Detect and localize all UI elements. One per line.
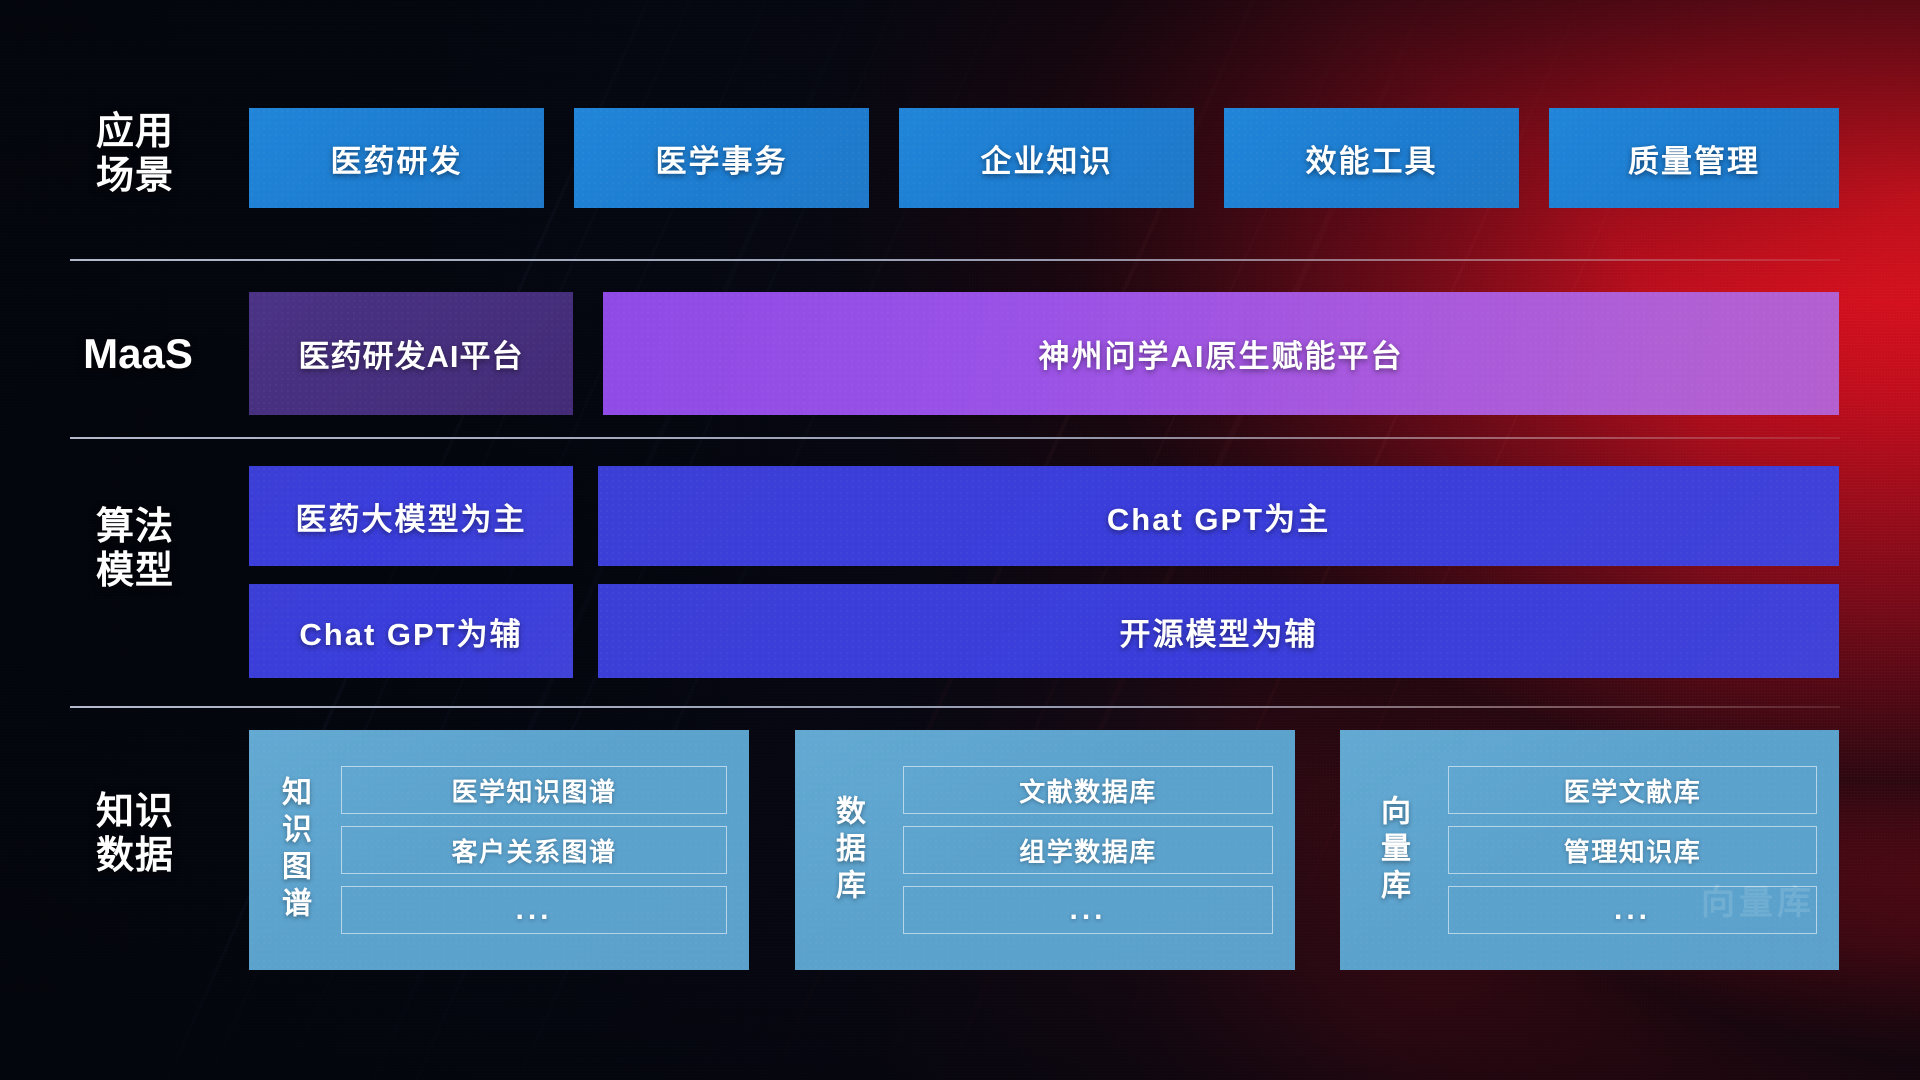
knowledge-panel-2-items: 文献数据库 组学数据库 ... [899,730,1295,970]
app-box-5-label: 质量管理 [1628,136,1760,181]
knowledge-item-label: ... [1069,893,1106,927]
knowledge-panel-3-items: 医学文献库 管理知识库 ... [1444,730,1839,970]
knowledge-item-label: 医学文献库 [1564,772,1702,809]
row-label-algorithm-line1: 算法 [60,505,210,549]
knowledge-item[interactable]: ... [1448,886,1817,934]
maas-right-label: 神州问学AI原生赋能平台 [1039,331,1404,376]
app-box-1-label: 医药研发 [331,136,463,181]
app-box-3[interactable]: 企业知识 [899,108,1194,208]
knowledge-item-label: 文献数据库 [1019,772,1157,809]
knowledge-panel-3[interactable]: 向量库 医学文献库 管理知识库 ... 向量库 [1340,730,1839,970]
algo-bottom-right-box[interactable]: 开源模型为辅 [598,584,1839,678]
row-label-maas-text: MaaS [58,330,218,379]
app-box-5[interactable]: 质量管理 [1549,108,1839,208]
maas-left-label: 医药研发AI平台 [299,331,524,376]
row-label-knowledge-line2: 数据 [60,834,210,878]
divider-maas-algorithm [70,437,1840,439]
knowledge-item[interactable]: 文献数据库 [903,766,1273,814]
row-label-application-line1: 应用 [60,110,210,154]
knowledge-item-label: 客户关系图谱 [451,832,616,869]
app-box-4[interactable]: 效能工具 [1224,108,1519,208]
algo-top-right-label: Chat GPT为主 [1107,494,1330,539]
knowledge-item-label: 管理知识库 [1564,832,1702,869]
knowledge-panel-1-category: 知识图谱 [249,730,337,970]
knowledge-item[interactable]: ... [341,886,727,934]
row-label-knowledge: 知识 数据 [60,790,210,878]
algo-bottom-left-label: Chat GPT为辅 [299,609,522,654]
app-box-4-label: 效能工具 [1306,136,1438,181]
knowledge-panel-2-category: 数据库 [795,730,899,970]
algo-top-left-label: 医药大模型为主 [296,494,527,539]
knowledge-item-label: 组学数据库 [1019,832,1157,869]
knowledge-item[interactable]: ... [903,886,1273,934]
knowledge-item[interactable]: 医学文献库 [1448,766,1817,814]
row-label-algorithm-line2: 模型 [60,549,210,593]
algo-bottom-left-box[interactable]: Chat GPT为辅 [249,584,573,678]
row-label-maas: MaaS [58,330,218,379]
knowledge-item-label: 医学知识图谱 [451,772,616,809]
knowledge-panel-1-items: 医学知识图谱 客户关系图谱 ... [337,730,749,970]
knowledge-panel-3-category: 向量库 [1340,730,1444,970]
architecture-diagram: 应用 场景 医药研发 医学事务 企业知识 效能工具 质量管理 MaaS 医药研发… [0,0,1920,1080]
knowledge-item-label: ... [515,893,552,927]
knowledge-item[interactable]: 客户关系图谱 [341,826,727,874]
app-box-2-label: 医学事务 [656,136,788,181]
row-label-application-line2: 场景 [60,154,210,198]
app-box-1[interactable]: 医药研发 [249,108,544,208]
knowledge-item-label: ... [1614,893,1651,927]
knowledge-item[interactable]: 管理知识库 [1448,826,1817,874]
maas-left-box[interactable]: 医药研发AI平台 [249,292,573,415]
knowledge-item[interactable]: 医学知识图谱 [341,766,727,814]
row-label-application: 应用 场景 [60,110,210,198]
maas-right-box[interactable]: 神州问学AI原生赋能平台 [603,292,1839,415]
knowledge-panel-1[interactable]: 知识图谱 医学知识图谱 客户关系图谱 ... [249,730,749,970]
divider-algorithm-knowledge [70,706,1840,708]
app-box-3-label: 企业知识 [981,136,1113,181]
algo-bottom-right-label: 开源模型为辅 [1120,609,1318,654]
row-label-algorithm: 算法 模型 [60,505,210,593]
row-label-knowledge-line1: 知识 [60,790,210,834]
divider-application-maas [70,259,1840,261]
algo-top-right-box[interactable]: Chat GPT为主 [598,466,1839,566]
app-box-2[interactable]: 医学事务 [574,108,869,208]
knowledge-panel-2[interactable]: 数据库 文献数据库 组学数据库 ... [795,730,1295,970]
knowledge-item[interactable]: 组学数据库 [903,826,1273,874]
algo-top-left-box[interactable]: 医药大模型为主 [249,466,573,566]
